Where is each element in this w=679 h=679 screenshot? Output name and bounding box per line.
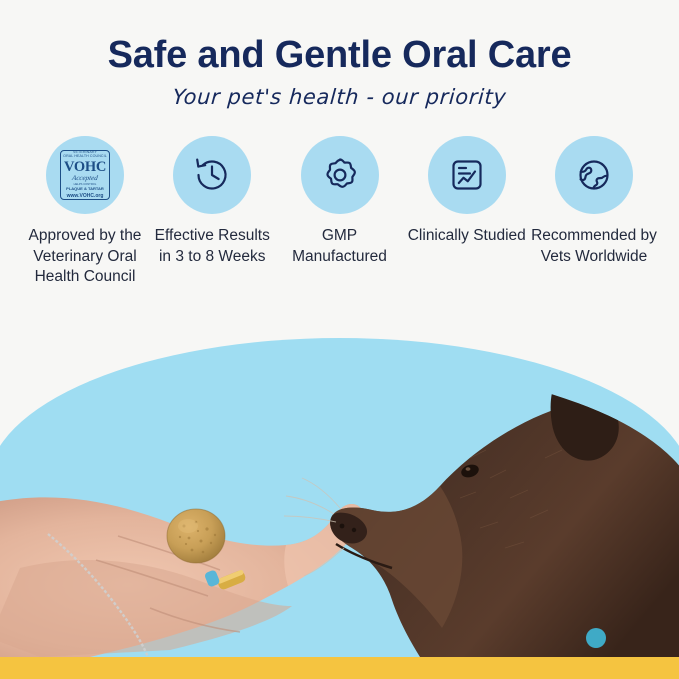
gear-icon xyxy=(301,136,379,214)
globe-icon xyxy=(555,136,633,214)
seal-accepted-text: Accepted xyxy=(72,175,99,182)
seal-line-4: PLAQUE & TARTAR xyxy=(66,187,104,191)
vohc-seal-icon: VETERINARY ORAL HEALTH COUNCIL VOHC Acce… xyxy=(46,136,124,214)
badge-caption: Recommended by Vets Worldwide xyxy=(531,226,657,267)
badge-recommended-by-vets: Recommended by Vets Worldwide xyxy=(531,136,657,267)
clock-history-icon xyxy=(173,136,251,214)
chart-report-icon xyxy=(428,136,506,214)
product-infographic: Safe and Gentle Oral Care Your pet's hea… xyxy=(0,0,679,679)
page-subtitle: Your pet's health - our priority xyxy=(0,85,679,109)
header: Safe and Gentle Oral Care Your pet's hea… xyxy=(0,34,679,109)
badge-clinically-studied: Clinically Studied xyxy=(404,136,530,247)
badge-gmp-manufactured: GMP Manufactured xyxy=(277,136,403,267)
feature-badges: VETERINARY ORAL HEALTH COUNCIL VOHC Acce… xyxy=(22,136,657,288)
badge-caption: Approved by the Veterinary Oral Health C… xyxy=(22,226,148,288)
seal-url-text: www.VOHC.org xyxy=(67,194,104,199)
bottom-accent-bar xyxy=(0,657,679,679)
photo-content xyxy=(0,338,679,657)
badge-caption: Effective Results in 3 to 8 Weeks xyxy=(149,226,275,267)
page-title: Safe and Gentle Oral Care xyxy=(0,34,679,78)
badge-caption: Clinically Studied xyxy=(408,226,526,247)
badge-vohc-approved: VETERINARY ORAL HEALTH COUNCIL VOHC Acce… xyxy=(22,136,148,288)
product-photo xyxy=(0,338,679,657)
seal-main-text: VOHC xyxy=(64,160,106,175)
badge-caption: GMP Manufactured xyxy=(277,226,403,267)
badge-effective-results: Effective Results in 3 to 8 Weeks xyxy=(149,136,275,267)
